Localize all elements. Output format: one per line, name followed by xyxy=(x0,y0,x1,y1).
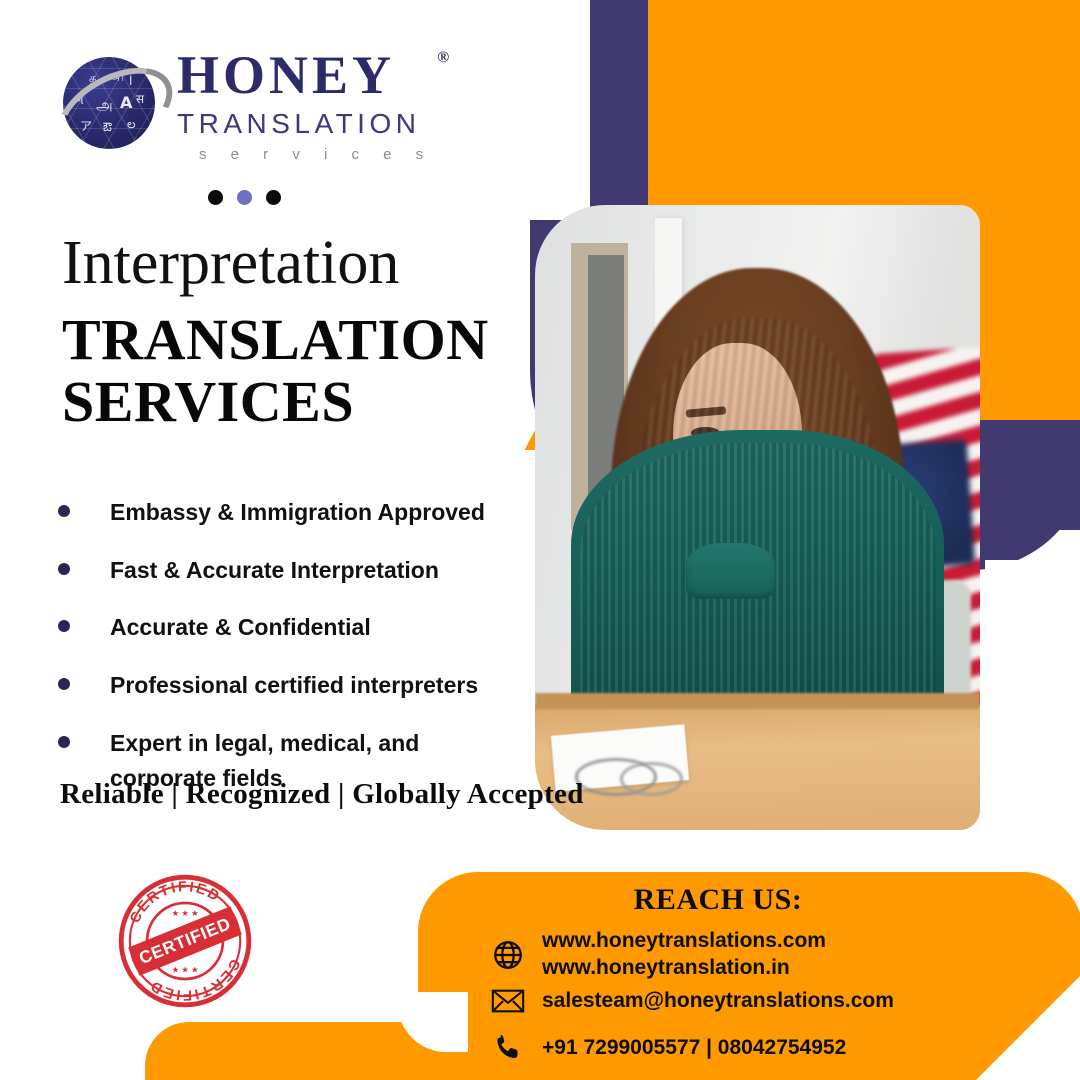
contact-row-website[interactable]: www.honeytranslations.com www.honeytrans… xyxy=(486,928,826,982)
website-primary[interactable]: www.honeytranslations.com xyxy=(542,929,826,952)
photo-turtleneck-collar xyxy=(686,543,775,599)
feature-text: Professional certified interpreters xyxy=(110,668,478,704)
headline-script: Interpretation xyxy=(62,232,489,294)
white-cut-right xyxy=(985,560,1080,760)
certified-stamp-icon: CERTIFIED CERTIFIED ★ ★ ★ ★ ★ ★ CERTIFIE… xyxy=(104,872,266,1010)
dot-3-icon xyxy=(266,190,281,205)
list-item: Fast & Accurate Interpretation xyxy=(58,553,528,589)
bullet-dot-icon xyxy=(58,736,70,748)
svg-text:★ ★ ★: ★ ★ ★ xyxy=(172,966,199,975)
headline-bold-1: TRANSLATION xyxy=(62,306,489,374)
bullet-dot-icon xyxy=(58,620,70,632)
certified-stamp-svg: CERTIFIED CERTIFIED ★ ★ ★ ★ ★ ★ CERTIFIE… xyxy=(104,872,266,1010)
list-item: Accurate & Confidential xyxy=(58,610,528,646)
bullet-dot-icon xyxy=(58,678,70,690)
decorative-dots xyxy=(208,190,281,205)
headline-bold-2: SERVICES xyxy=(62,368,489,436)
contact-row-phone[interactable]: +91 7299005577 | 08042754952 xyxy=(486,1032,846,1064)
website-lines: www.honeytranslations.com www.honeytrans… xyxy=(542,928,826,982)
feature-list: Embassy & Immigration Approved Fast & Ac… xyxy=(58,495,528,819)
hero-photo-interpreter xyxy=(535,205,980,830)
brand-name-primary: HONEY® xyxy=(177,48,433,102)
envelope-icon xyxy=(486,988,530,1014)
feature-text: Embassy & Immigration Approved xyxy=(110,495,485,531)
contact-title: REACH US: xyxy=(418,883,1018,917)
photo-desk-edge xyxy=(535,693,980,709)
bullet-dot-icon xyxy=(58,563,70,575)
brand-name-primary-text: HONEY xyxy=(177,45,395,105)
globe-logo-icon: க আ l ગ அ A स ア ఔ ల xyxy=(55,51,163,159)
dot-1-icon xyxy=(208,190,223,205)
list-item: Professional certified interpreters xyxy=(58,668,528,704)
brand-wordmark: HONEY® TRANSLATION s e r v i c e s xyxy=(177,48,433,162)
brand-name-tertiary: s e r v i c e s xyxy=(199,147,433,162)
feature-text: Fast & Accurate Interpretation xyxy=(110,553,439,589)
poster-canvas: க আ l ગ அ A स ア ఔ ల HONEY® TRANSLATION s… xyxy=(0,0,1080,1080)
photo-glasses-right-lens xyxy=(620,762,684,796)
brand-name-secondary: TRANSLATION xyxy=(177,110,433,138)
brand-logo: க আ l ગ அ A स ア ఔ ల HONEY® TRANSLATION s… xyxy=(55,48,433,162)
tagline: Reliable | Recognized | Globally Accepte… xyxy=(60,778,584,811)
feature-text: Accurate & Confidential xyxy=(110,610,371,646)
phone-numbers[interactable]: +91 7299005577 | 08042754952 xyxy=(542,1035,846,1062)
white-cut-top xyxy=(530,0,590,220)
registered-mark-icon: ® xyxy=(437,50,453,66)
website-secondary[interactable]: www.honeytranslation.in xyxy=(542,956,790,979)
list-item: Embassy & Immigration Approved xyxy=(58,495,528,531)
phone-icon xyxy=(486,1032,530,1064)
svg-text:★ ★ ★: ★ ★ ★ xyxy=(172,909,199,918)
headline-block: Interpretation TRANSLATION SERVICES xyxy=(62,232,489,436)
globe-icon xyxy=(486,938,530,972)
dot-2-icon xyxy=(237,190,252,205)
contact-row-email[interactable]: salesteam@honeytranslations.com xyxy=(486,988,894,1015)
bullet-dot-icon xyxy=(58,505,70,517)
contact-panel-corner-cut xyxy=(974,972,1080,1080)
email-address[interactable]: salesteam@honeytranslations.com xyxy=(542,988,894,1015)
